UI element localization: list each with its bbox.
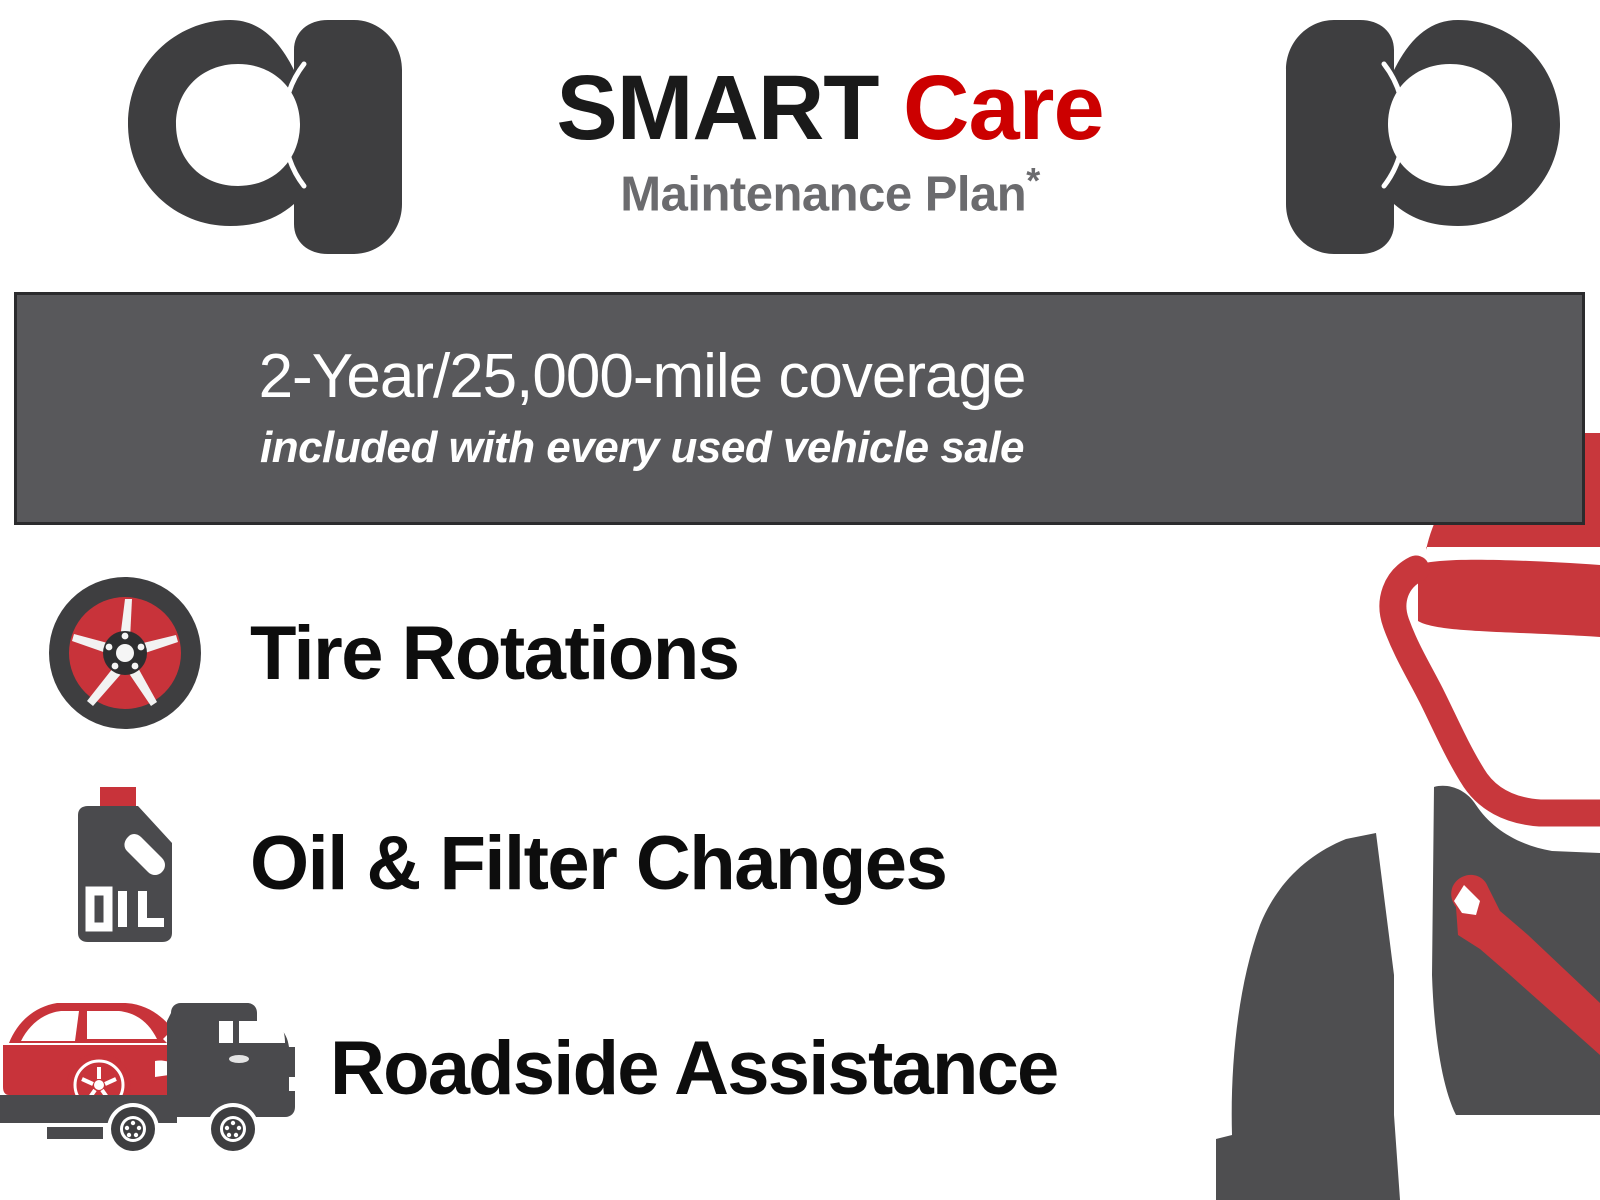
feature-item-oil-filter-changes: Oil & Filter Changes — [0, 768, 1180, 958]
feature-item-roadside-assistance: Roadside Assistance — [0, 973, 1180, 1163]
logo-wordmark: SMART Care Maintenance Plan* — [430, 62, 1230, 222]
feature-label-tire-rotations: Tire Rotations — [250, 610, 739, 697]
logo-title-care: Care — [903, 57, 1104, 159]
feature-label-roadside-assistance: Roadside Assistance — [330, 1025, 1058, 1112]
logo-title-smart: SMART — [556, 57, 878, 159]
feature-list: Tire Rotations Oil & Filter Changes — [0, 548, 1180, 1188]
coverage-headline: 2-Year/25,000-mile coverage — [259, 344, 1026, 409]
tow-truck-icon — [0, 973, 330, 1163]
coverage-banner-content: 2-Year/25,000-mile coverage included wit… — [17, 295, 1267, 522]
feature-label-oil-filter-changes: Oil & Filter Changes — [250, 820, 946, 907]
logo-header: SMART Care Maintenance Plan* — [0, 0, 1600, 285]
tire-wheel-icon — [0, 563, 250, 743]
coverage-subhead: included with every used vehicle sale — [260, 423, 1024, 473]
smart-care-maintenance-plan-poster: SMART Care Maintenance Plan* 2-Year/25,0… — [0, 0, 1600, 1200]
wrench-icon-right — [1240, 12, 1570, 262]
coverage-banner: 2-Year/25,000-mile coverage included wit… — [14, 292, 1585, 525]
wrench-icon-left — [118, 12, 448, 262]
oil-bottle-icon — [0, 773, 250, 953]
mechanic-figure-icon — [1180, 415, 1600, 1200]
feature-item-tire-rotations: Tire Rotations — [0, 558, 1180, 748]
logo-title: SMART Care — [430, 62, 1230, 154]
logo-subtitle-asterisk: * — [1026, 160, 1040, 201]
logo-subtitle: Maintenance Plan* — [430, 160, 1230, 222]
logo-subtitle-text: Maintenance Plan — [620, 167, 1026, 221]
